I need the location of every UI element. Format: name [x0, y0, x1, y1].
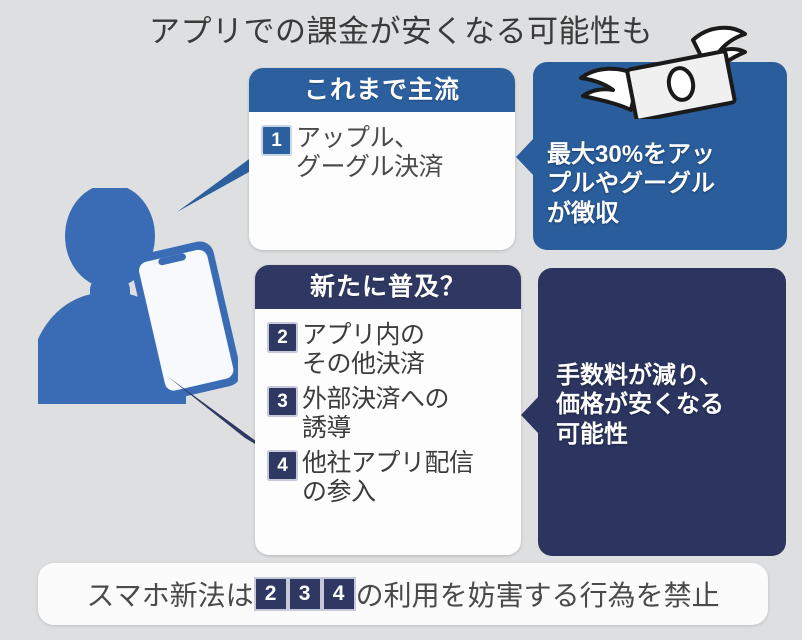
- footer-badge-4: 4: [324, 579, 354, 609]
- winged-money-icon: [573, 24, 783, 119]
- infographic-root: アプリでの課金が安くなる可能性も これまで主流 1 アップ: [0, 0, 802, 640]
- footer-badge-3: 3: [290, 579, 320, 609]
- item-label: アプリ内の その他決済: [302, 321, 425, 379]
- card-1-header: これまで主流: [249, 68, 515, 112]
- panel-navy-text: 手数料が減り、 価格が安くなる 可能性: [556, 361, 724, 449]
- list-item: 4 他社アプリ配信 の参入: [269, 449, 511, 507]
- panel-price-reduction: 手数料が減り、 価格が安くなる 可能性: [538, 268, 786, 556]
- footer-badge-2: 2: [256, 579, 286, 609]
- panel-blue-text: 最大30%をアッ プルやグーグル が徴収: [547, 140, 715, 228]
- list-item: 2 アプリ内の その他決済: [269, 321, 511, 379]
- item-number-badge: 4: [269, 452, 296, 479]
- panel-blue-notch-icon: [516, 138, 534, 176]
- item-number-badge: 1: [263, 127, 290, 154]
- card-current-mainstream: これまで主流 1 アップル、 グーグル決済: [249, 68, 515, 250]
- card-2-body: 2 アプリ内の その他決済 3 外部決済への 誘導 4 他社アプリ配信 の参入: [255, 309, 521, 515]
- item-label: 他社アプリ配信 の参入: [302, 449, 474, 507]
- item-label: アップル、 グーグル決済: [296, 124, 443, 182]
- footer-suffix: の利用を妨害する行為を禁止: [356, 574, 720, 614]
- item-number-badge: 3: [269, 388, 296, 415]
- footer-prefix: スマホ新法は: [86, 574, 253, 614]
- card-newly-spreading: 新たに普及？ 2 アプリ内の その他決済 3 外部決済への 誘導 4 他社アプリ…: [255, 265, 521, 555]
- card-1-body: 1 アップル、 グーグル決済: [249, 112, 515, 190]
- footer-note: スマホ新法は 2 3 4 の利用を妨害する行為を禁止: [38, 563, 768, 625]
- list-item: 1 アップル、 グーグル決済: [263, 124, 505, 182]
- panel-commission-fee: 最大30%をアッ プルやグーグル が徴収: [533, 62, 787, 250]
- item-number-badge: 2: [269, 324, 296, 351]
- panel-navy-notch-icon: [521, 396, 539, 434]
- list-item: 3 外部決済への 誘導: [269, 385, 511, 443]
- footer-line: スマホ新法は 2 3 4 の利用を妨害する行為を禁止: [86, 574, 719, 614]
- card-2-header: 新たに普及？: [255, 265, 521, 309]
- item-label: 外部決済への 誘導: [302, 385, 449, 443]
